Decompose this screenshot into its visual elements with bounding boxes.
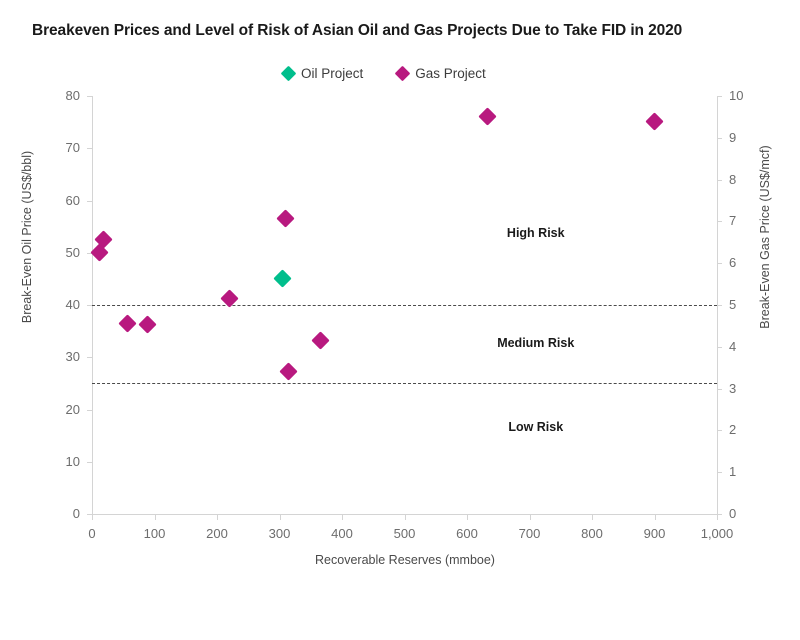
x-axis-tick-label: 400 (312, 526, 372, 541)
x-axis-tick-label: 0 (62, 526, 122, 541)
y-axis-left-tick-label: 60 (34, 193, 80, 208)
x-axis-tick-label: 200 (187, 526, 247, 541)
y-axis-right-tick-mark (717, 472, 722, 473)
high-medium-risk-threshold (92, 305, 717, 306)
x-axis-tick-mark (405, 515, 406, 520)
x-axis-tick-label: 1,000 (687, 526, 747, 541)
y-axis-right-tick-label: 4 (729, 339, 769, 354)
plot-area: High RiskMedium RiskLow Risk (92, 96, 717, 514)
y-axis-right-tick-label: 10 (729, 88, 769, 103)
y-axis-right-tick-label: 2 (729, 422, 769, 437)
x-axis-tick-mark (530, 515, 531, 520)
data-point-gas-project[interactable] (138, 315, 156, 333)
y-axis-right-tick-mark (717, 221, 722, 222)
legend-diamond-icon (395, 65, 411, 81)
y-axis-right-tick-mark (717, 430, 722, 431)
y-axis-right-tick-mark (717, 305, 722, 306)
y-axis-right-tick-label: 5 (729, 297, 769, 312)
chart-title: Breakeven Prices and Level of Risk of As… (32, 22, 772, 40)
legend-label: Oil Project (301, 66, 363, 81)
y-axis-right-tick-label: 0 (729, 506, 769, 521)
x-axis-tick-label: 700 (500, 526, 560, 541)
y-axis-left-tick-label: 0 (34, 506, 80, 521)
data-point-gas-project[interactable] (311, 331, 329, 349)
y-axis-right-tick-mark (717, 138, 722, 139)
x-axis-tick-mark (92, 515, 93, 520)
x-axis-tick-mark (467, 515, 468, 520)
chart-legend: Oil ProjectGas Project (283, 64, 486, 82)
risk-band-label-high-risk: High Risk (507, 226, 565, 240)
x-axis-tick-label: 900 (625, 526, 685, 541)
y-axis-left-tick-label: 80 (34, 88, 80, 103)
data-point-gas-project[interactable] (280, 363, 298, 381)
y-axis-right-tick-label: 8 (729, 172, 769, 187)
data-point-gas-project[interactable] (645, 112, 663, 130)
x-axis-tick-mark (280, 515, 281, 520)
y-axis-right-tick-mark (717, 96, 722, 97)
legend-label: Gas Project (415, 66, 486, 81)
y-axis-left-tick-label: 50 (34, 245, 80, 260)
data-point-gas-project[interactable] (90, 244, 108, 262)
risk-band-label-low-risk: Low Risk (508, 420, 563, 434)
y-axis-right-tick-mark (717, 263, 722, 264)
data-point-gas-project[interactable] (478, 108, 496, 126)
y-axis-left-tick-label: 70 (34, 140, 80, 155)
x-axis-tick-mark (655, 515, 656, 520)
y-axis-right-tick-mark (717, 180, 722, 181)
legend-diamond-icon (281, 65, 297, 81)
x-axis-tick-mark (155, 515, 156, 520)
y-axis-left-tick-label: 10 (34, 454, 80, 469)
y-axis-left-tick-label: 20 (34, 402, 80, 417)
x-axis-title: Recoverable Reserves (mmboe) (92, 553, 718, 567)
y-axis-right-tick-label: 7 (729, 213, 769, 228)
x-axis-tick-label: 300 (250, 526, 310, 541)
y-axis-right-tick-label: 6 (729, 255, 769, 270)
y-axis-left-title: Break-Even Oil Price (US$/bbl) (20, 77, 34, 397)
y-axis-right-tick-mark (717, 347, 722, 348)
y-axis-left-tick-label: 30 (34, 349, 80, 364)
x-axis-tick-label: 100 (125, 526, 185, 541)
x-axis-tick-mark (717, 515, 718, 520)
x-axis-tick-mark (592, 515, 593, 520)
y-axis-right-tick-label: 1 (729, 464, 769, 479)
medium-low-risk-threshold (92, 383, 717, 384)
x-axis-tick-label: 800 (562, 526, 622, 541)
x-axis-tick-label: 600 (437, 526, 497, 541)
y-axis-left-tick-label: 40 (34, 297, 80, 312)
x-axis-tick-label: 500 (375, 526, 435, 541)
data-point-gas-project[interactable] (277, 210, 295, 228)
y-axis-right-tick-mark (717, 389, 722, 390)
data-point-oil-project[interactable] (273, 270, 291, 288)
y-axis-right-tick-label: 3 (729, 381, 769, 396)
x-axis-tick-mark (217, 515, 218, 520)
x-axis-tick-mark (342, 515, 343, 520)
data-point-gas-project[interactable] (118, 314, 136, 332)
chart-container: Breakeven Prices and Level of Risk of As… (0, 0, 800, 640)
y-axis-right-tick-label: 9 (729, 130, 769, 145)
risk-band-label-medium-risk: Medium Risk (497, 336, 574, 350)
legend-item-oil-project[interactable]: Oil Project (283, 66, 363, 81)
legend-item-gas-project[interactable]: Gas Project (397, 66, 486, 81)
